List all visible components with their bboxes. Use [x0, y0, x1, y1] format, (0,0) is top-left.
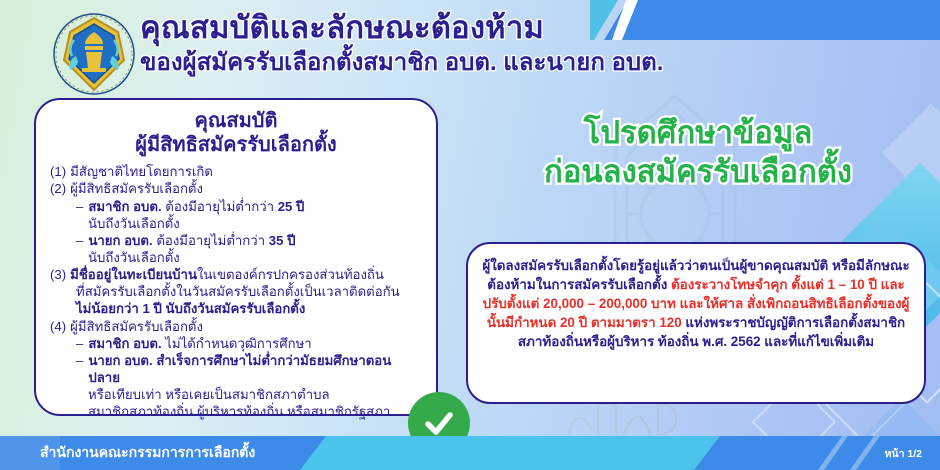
item-text: มีชื่ออยู่ในทะเบียนบ้านในเขตองค์กรปกครอง… — [70, 266, 422, 283]
warning-seg3: ต้องระวางโทษจำคุก — [671, 277, 788, 292]
sub-bold-age: 35 ปี — [269, 233, 296, 248]
warning-seg7: ท้องถิ่น พ.ศ. 2562 และที่แก้ไขเพิ่มเติม — [658, 334, 874, 349]
poster-header: คุณสมบัติและลักษณะต้องห้าม ของผู้สมัครรั… — [0, 0, 940, 92]
sub-item: – นายก อบต. สำเร็จการศึกษาไม่ต่ำกว่ามัธย… — [50, 352, 422, 386]
sub-item: – สมาชิก อบต. ต้องมีอายุไม่ต่ำกว่า 25 ปี — [50, 198, 422, 215]
item-text: ผู้มีสิทธิสมัครรับเลือกตั้ง — [70, 318, 422, 335]
sub-continuation-2: สมาชิกสภาท้องถิ่น ผู้บริหารท้องถิ่น หรือ… — [50, 403, 422, 420]
sub-dash: – — [76, 198, 83, 215]
poster-footer: สำนักงานคณะกรรมการการเลือกตั้ง หน้า 1/2 — [0, 436, 940, 470]
call-to-action-headline: โปรดศึกษาข้อมูล ก่อนลงสมัครรับเลือกตั้ง — [462, 114, 934, 192]
penalty-warning-card: ผู้ใดลงสมัครรับเลือกตั้งโดยรู้อยู่แล้วว่… — [466, 242, 926, 404]
footer-organization: สำนักงานคณะกรรมการการเลือกตั้ง — [40, 436, 255, 470]
sub-mid: ต้องมีอายุไม่ต่ำกว่า — [162, 199, 278, 214]
item-text: มีสัญชาติไทยโดยการเกิด — [70, 163, 422, 180]
sub-dash: – — [76, 352, 83, 386]
item-text: ผู้มีสิทธิสมัครรับเลือกตั้ง — [70, 180, 422, 197]
sub-bold-role: นายก อบต. — [88, 233, 152, 248]
qualification-heading-line1: คุณสมบัติ — [194, 110, 277, 132]
list-item: (3) มีชื่ออยู่ในทะเบียนบ้านในเขตองค์กรปก… — [50, 266, 422, 283]
headline-line2: ก่อนลงสมัครรับเลือกตั้ง — [462, 153, 934, 192]
election-commission-seal-icon — [52, 12, 136, 96]
item-rest: ในเขตองค์กรปกครองส่วนท้องถิ่น — [197, 267, 384, 282]
qualification-list: (1) มีสัญชาติไทยโดยการเกิด (2) ผู้มีสิทธ… — [50, 163, 422, 420]
list-item: (4) ผู้มีสิทธิสมัครรับเลือกตั้ง — [50, 318, 422, 335]
qualification-heading: คุณสมบัติ ผู้มีสิทธิสมัครรับเลือกตั้ง — [50, 110, 422, 157]
item-line2: ที่สมัครรับเลือกตั้งในวันสมัครรับเลือกตั… — [50, 283, 422, 300]
sub-dash: – — [76, 335, 83, 352]
footer-page-indicator: หน้า 1/2 — [884, 436, 922, 470]
sub-item: – นายก อบต. ต้องมีอายุไม่ต่ำกว่า 35 ปี — [50, 232, 422, 249]
item-line3: ไม่น้อยกว่า 1 ปี นับถึงวันสมัครรับเลือกต… — [50, 300, 422, 317]
sub-continuation: หรือเทียบเท่า หรือเคยเป็นสมาชิกสภาตำบล — [50, 386, 422, 403]
sub-continuation: นับถึงวันเลือกตั้ง — [50, 249, 422, 266]
qualification-heading-line2: ผู้มีสิทธิสมัครรับเลือกตั้ง — [50, 134, 422, 158]
qualification-card: คุณสมบัติ ผู้มีสิทธิสมัครรับเลือกตั้ง (1… — [34, 98, 438, 416]
poster-title-line2: ของผู้สมัครรับเลือกตั้งสมาชิก อบต. และนา… — [140, 48, 700, 77]
sub-mid: ต้องมีอายุไม่ต่ำกว่า — [153, 233, 269, 248]
sub-bold-role: สมาชิก อบต. — [88, 199, 161, 214]
sub-text: สมาชิก อบต. ไม่ได้กำหนดวุฒิการศึกษา — [88, 335, 311, 352]
item-bold-lead: มีชื่ออยู่ในทะเบียนบ้าน — [70, 267, 197, 282]
list-item: (1) มีสัญชาติไทยโดยการเกิด — [50, 163, 422, 180]
sub-bold-role: สมาชิก อบต. — [88, 336, 161, 351]
sub-continuation: นับถึงวันเลือกตั้ง — [50, 215, 422, 232]
infographic-poster: คุณสมบัติและลักษณะต้องห้าม ของผู้สมัครรั… — [0, 0, 940, 470]
sub-bold-age: 25 ปี — [278, 199, 305, 214]
item-number: (4) — [50, 318, 66, 335]
item-number: (3) — [50, 266, 66, 283]
poster-title-line1: คุณสมบัติและลักษณะต้องห้าม — [140, 10, 700, 47]
warning-seg1: ผู้ใดลงสมัครรับเลือกตั้งโดยรู้อยู่แล้วว่… — [482, 258, 828, 273]
sub-bold-role: นายก อบต. สำเร็จการศึกษาไม่ต่ำกว่ามัธยมศ… — [88, 352, 422, 386]
list-item: (2) ผู้มีสิทธิสมัครรับเลือกตั้ง — [50, 180, 422, 197]
sub-text: นายก อบต. ต้องมีอายุไม่ต่ำกว่า 35 ปี — [88, 232, 295, 249]
headline-line1: โปรดศึกษาข้อมูล — [584, 115, 813, 150]
footer-cyan-band — [300, 436, 720, 470]
sub-item: – สมาชิก อบต. ไม่ได้กำหนดวุฒิการศึกษา — [50, 335, 422, 352]
sub-mid: ไม่ได้กำหนดวุฒิการศึกษา — [162, 336, 312, 351]
sub-dash: – — [76, 232, 83, 249]
item-number: (2) — [50, 180, 66, 197]
sub-text: สมาชิก อบต. ต้องมีอายุไม่ต่ำกว่า 25 ปี — [88, 198, 304, 215]
title-block: คุณสมบัติและลักษณะต้องห้าม ของผู้สมัครรั… — [140, 10, 700, 77]
item-number: (1) — [50, 163, 66, 180]
